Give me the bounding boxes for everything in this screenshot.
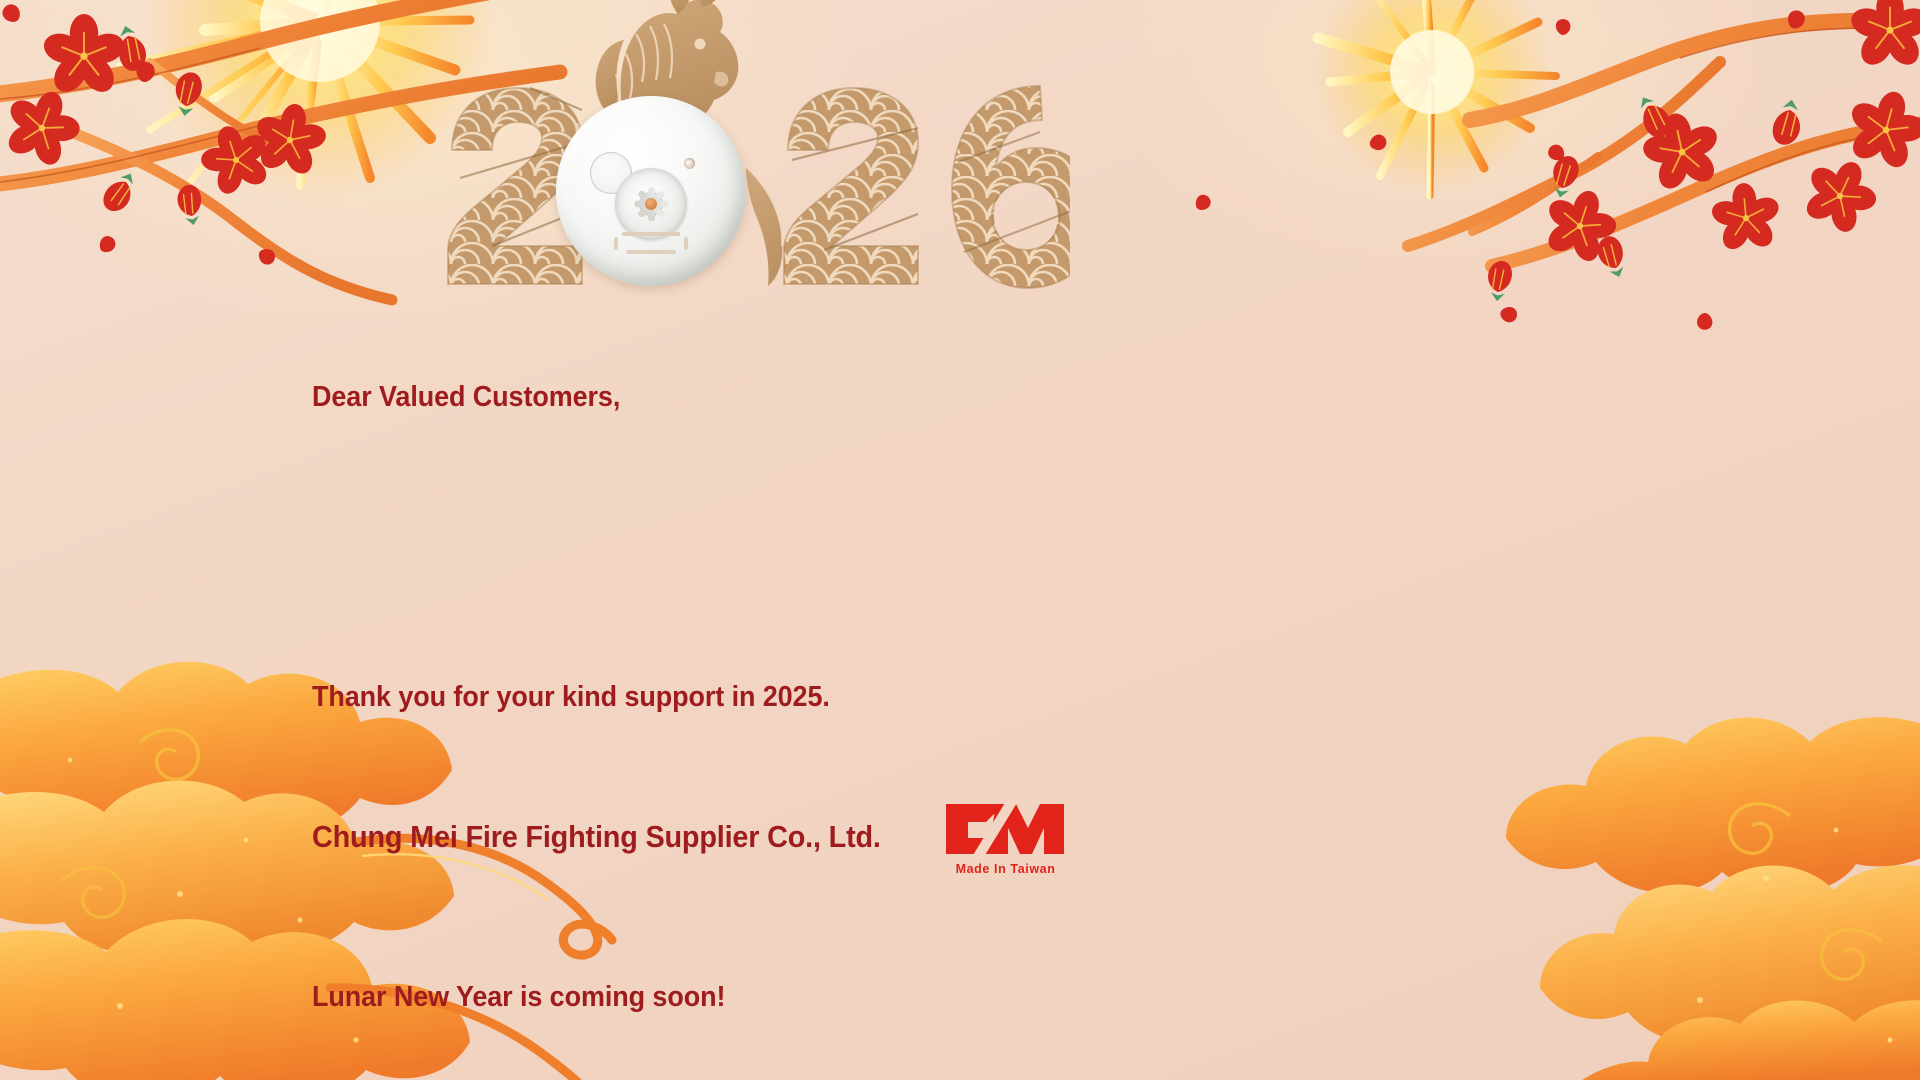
cm-monogram-icon <box>942 798 1070 860</box>
year-2026-headline <box>430 0 1070 300</box>
firework-burst-right <box>1312 0 1556 196</box>
digit-2-second <box>784 88 918 284</box>
horse-tail <box>746 168 782 286</box>
logo-tagline: Made In Taiwan <box>942 862 1070 876</box>
digit-6 <box>952 86 1070 288</box>
signature-row: Chung Mei Fire Fighting Supplier Co., Lt… <box>312 798 1070 876</box>
smoke-detector-icon <box>556 96 746 286</box>
spacer <box>312 522 1484 572</box>
company-logo: Made In Taiwan <box>942 798 1070 876</box>
holiday-intro-line: Lunar New Year is coming soon! <box>312 972 1484 1022</box>
lunar-new-year-notice-card: Dear Valued Customers, Thank you for you… <box>0 0 1920 1080</box>
detector-grille <box>614 232 688 258</box>
thanks-line: Thank you for your kind support in 2025. <box>312 672 1484 722</box>
detector-led <box>684 158 695 169</box>
company-name: Chung Mei Fire Fighting Supplier Co., Lt… <box>312 819 881 855</box>
auspicious-cloud-bottom-right <box>1506 717 1920 1080</box>
notice-message-body: Dear Valued Customers, Thank you for you… <box>312 272 1484 1080</box>
salutation-line: Dear Valued Customers, <box>312 372 1484 422</box>
detector-hub <box>615 168 687 240</box>
